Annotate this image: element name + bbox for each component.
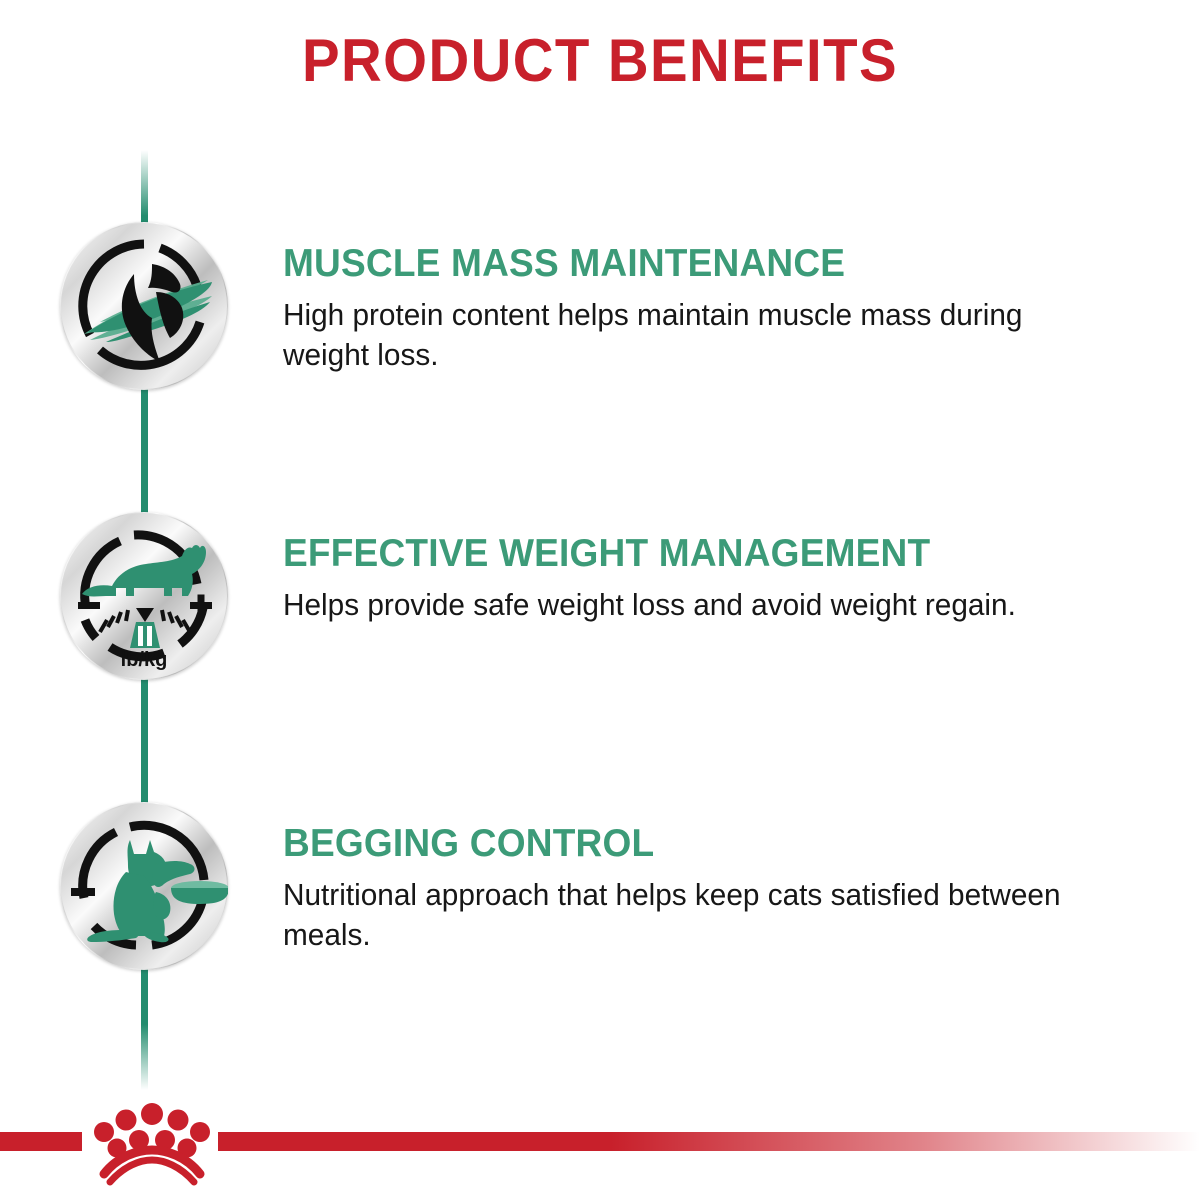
footer — [0, 1090, 1200, 1200]
food-bowl — [171, 881, 228, 904]
benefit-2-heading: EFFECTIVE WEIGHT MANAGEMENT — [283, 534, 1062, 573]
product-benefits-page: PRODUCT BENEFITS — [0, 0, 1200, 1200]
benefit-1-text: MUSCLE MASS MAINTENANCE High protein con… — [283, 244, 1103, 374]
footer-bar-left — [0, 1132, 82, 1151]
weight-scale-cat-icon: lb/kg — [60, 512, 228, 680]
minus-sign — [78, 602, 100, 609]
muscle-fiber-icon — [60, 222, 228, 390]
benefit-1-heading: MUSCLE MASS MAINTENANCE — [283, 244, 1062, 283]
page-title: PRODUCT BENEFITS — [36, 26, 1164, 95]
benefit-3-body: Nutritional approach that helps keep cat… — [283, 875, 1070, 954]
benefit-2-body: Helps provide safe weight loss and avoid… — [283, 585, 1070, 625]
royal-canin-crown-logo — [84, 1098, 220, 1190]
ring-dash — [71, 888, 95, 896]
benefit-3-heading: BEGGING CONTROL — [283, 824, 1062, 863]
scale-unit-label: lb/kg — [121, 649, 168, 671]
benefit-2-text: EFFECTIVE WEIGHT MANAGEMENT Helps provid… — [283, 534, 1103, 625]
begging-cat-bowl-icon — [60, 802, 228, 970]
benefit-1-body: High protein content helps maintain musc… — [283, 295, 1070, 374]
footer-bar-right — [218, 1132, 1200, 1151]
benefit-3-text: BEGGING CONTROL Nutritional approach tha… — [283, 824, 1103, 954]
